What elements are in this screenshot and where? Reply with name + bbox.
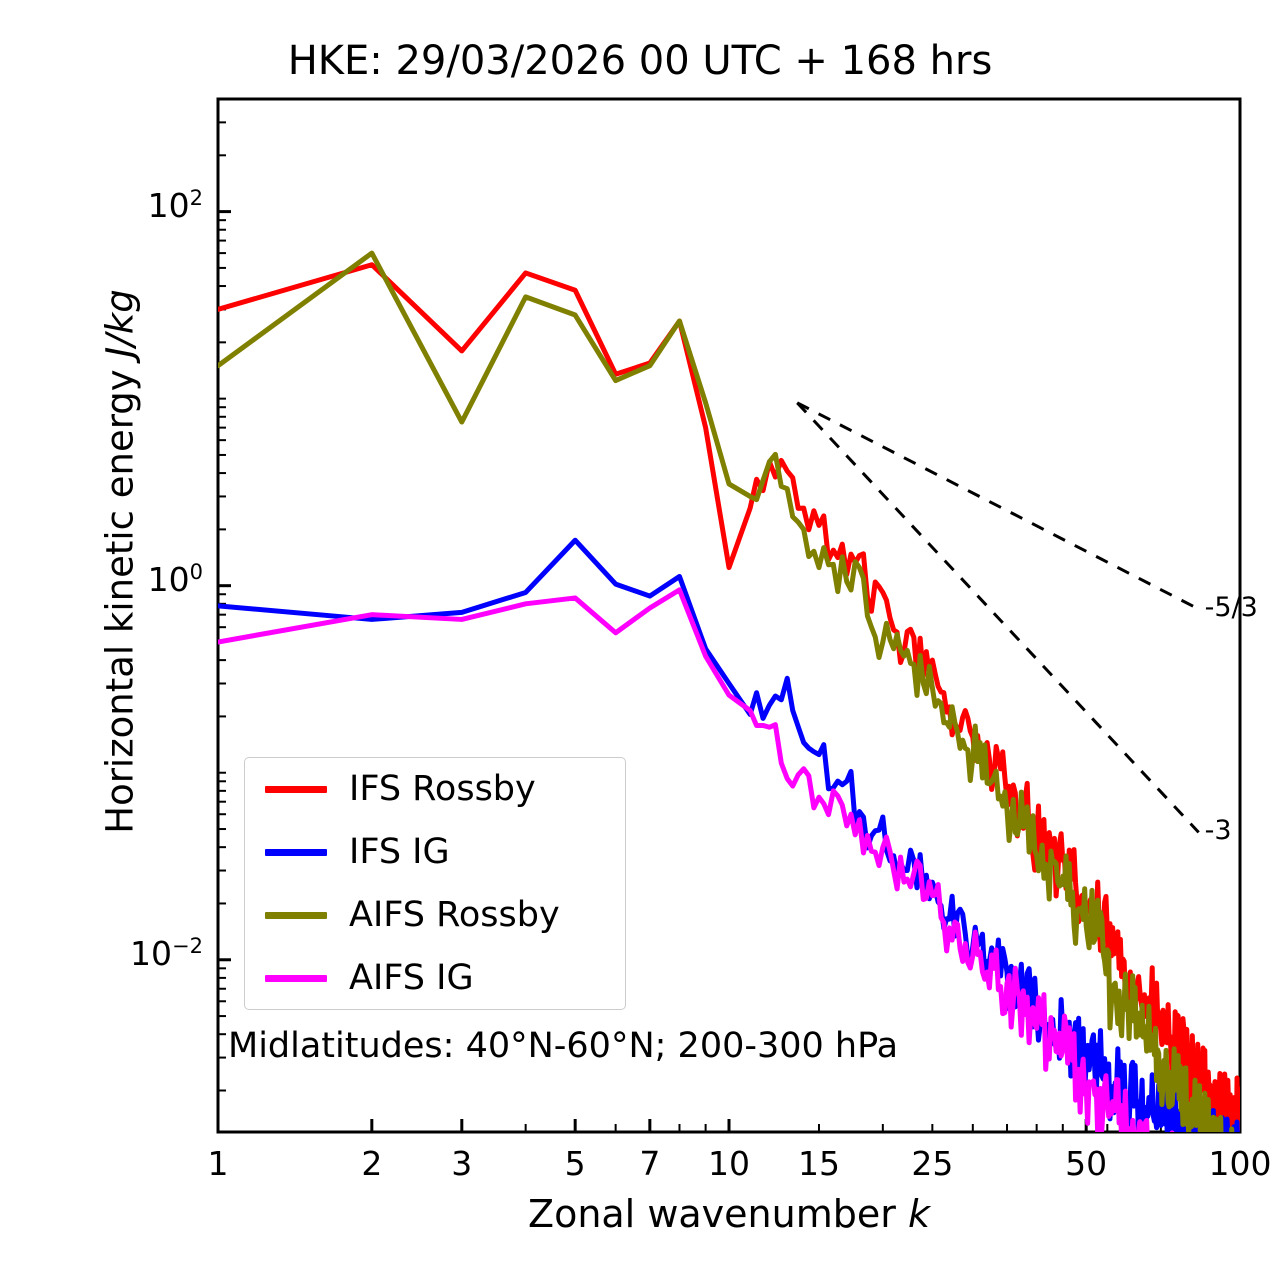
x-tick-label: 1 xyxy=(148,1144,288,1183)
y-tick-label: 100 xyxy=(53,560,203,599)
legend-item-label: AIFS Rossby xyxy=(349,898,560,933)
legend-item-label: AIFS IG xyxy=(349,961,474,996)
legend-item-ifs-rossby[interactable]: IFS Rossby xyxy=(245,758,625,821)
figure-canvas: HKE: 29/03/2026 00 UTC + 168 hrs Horizon… xyxy=(0,0,1280,1288)
series-layer xyxy=(218,253,1240,1250)
slope-label-3: -3 xyxy=(1205,815,1232,846)
slope-label-53: -5/3 xyxy=(1205,592,1258,623)
x-tick-label: 25 xyxy=(862,1144,1002,1183)
legend-color-swatch xyxy=(265,975,327,982)
legend-item-aifs-ig[interactable]: AIFS IG xyxy=(245,947,625,1010)
x-tick-label: 50 xyxy=(1016,1144,1156,1183)
y-tick-label: 10−2 xyxy=(53,934,203,973)
region-annotation: Midlatitudes: 40°N-60°N; 200-300 hPa xyxy=(228,1026,898,1066)
legend-item-label: IFS Rossby xyxy=(349,772,536,807)
y-tick-label: 102 xyxy=(53,186,203,225)
legend-color-swatch xyxy=(265,849,327,856)
legend-item-aifs-rossby[interactable]: AIFS Rossby xyxy=(245,884,625,947)
legend-color-swatch xyxy=(265,786,327,793)
slope-reference-line-53 xyxy=(797,403,1198,609)
legend-color-swatch xyxy=(265,912,327,919)
legend-item-label: IFS IG xyxy=(349,835,450,870)
series-line-ifs-rossby xyxy=(218,265,1240,1153)
x-tick-label: 100 xyxy=(1170,1144,1280,1183)
legend-box: IFS RossbyIFS IGAIFS RossbyAIFS IG xyxy=(244,757,626,1010)
legend-item-ifs-ig[interactable]: IFS IG xyxy=(245,821,625,884)
